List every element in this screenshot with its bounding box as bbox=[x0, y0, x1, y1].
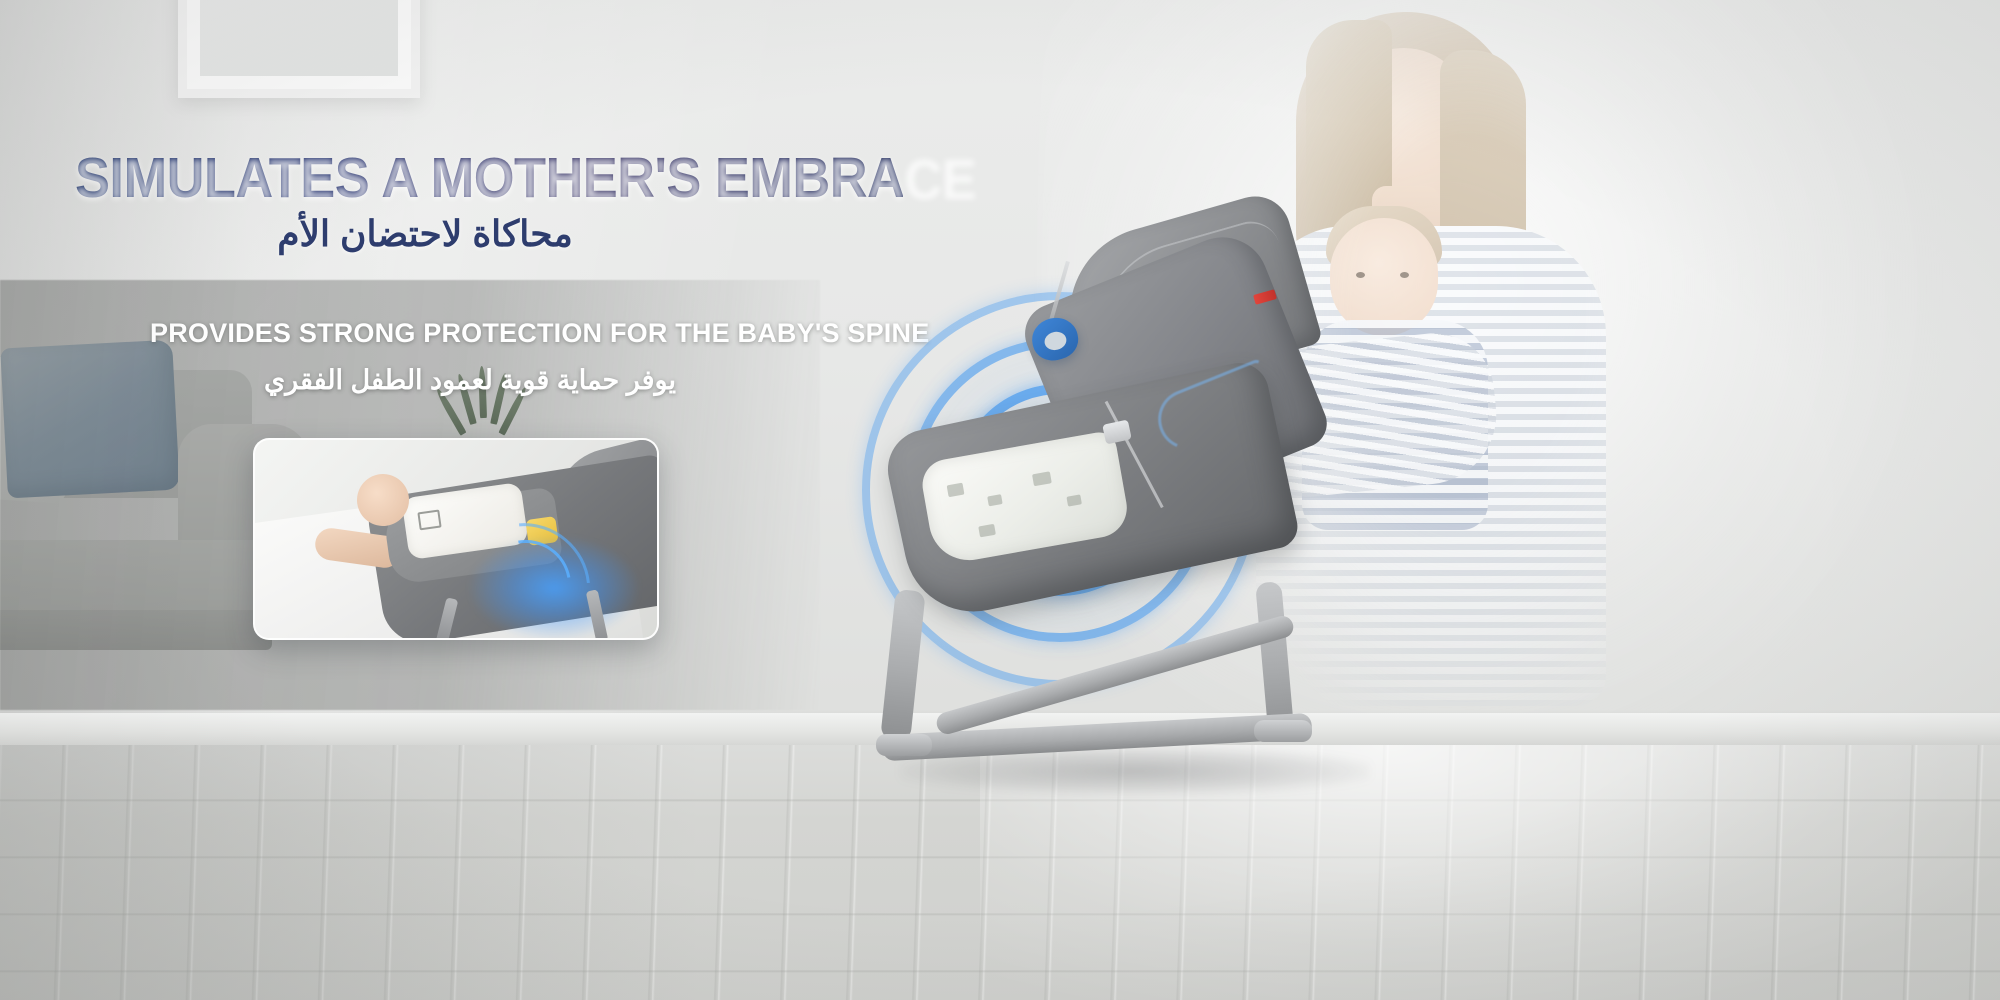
liner-pattern-dot bbox=[1066, 494, 1082, 506]
subtitle-english: PROVIDES STRONG PROTECTION FOR THE BABY'… bbox=[150, 318, 850, 349]
product-banner: SIMULATES A MOTHER'S EMBRACE محاكاة لاحت… bbox=[0, 0, 2000, 1000]
liner-pattern-dot bbox=[947, 483, 965, 498]
liner-pattern-dot bbox=[987, 494, 1003, 506]
headline-block: SIMULATES A MOTHER'S EMBRACE محاكاة لاحت… bbox=[75, 150, 975, 255]
liner-pattern-dot bbox=[978, 524, 996, 538]
page-title: SIMULATES A MOTHER'S EMBRACE bbox=[75, 150, 903, 207]
picture-frame-inner bbox=[200, 0, 398, 76]
product-floor-shadow bbox=[900, 748, 1370, 794]
baby-rocker-product bbox=[860, 200, 1420, 780]
subtitle-arabic: يوفر حماية قوية لعمود الطفل الفقري bbox=[190, 365, 750, 396]
subheadline-block: PROVIDES STRONG PROTECTION FOR THE BABY'… bbox=[150, 318, 850, 396]
inset-photo-card bbox=[253, 438, 659, 640]
floor-shadow bbox=[0, 745, 700, 1000]
liner-pattern-dot bbox=[1032, 471, 1052, 486]
base-foot-right bbox=[1254, 720, 1312, 742]
picture-frame-icon bbox=[178, 0, 420, 98]
base-bar-rear bbox=[880, 589, 926, 741]
page-title-arabic: محاكاة لاحتضان الأم bbox=[75, 213, 775, 255]
